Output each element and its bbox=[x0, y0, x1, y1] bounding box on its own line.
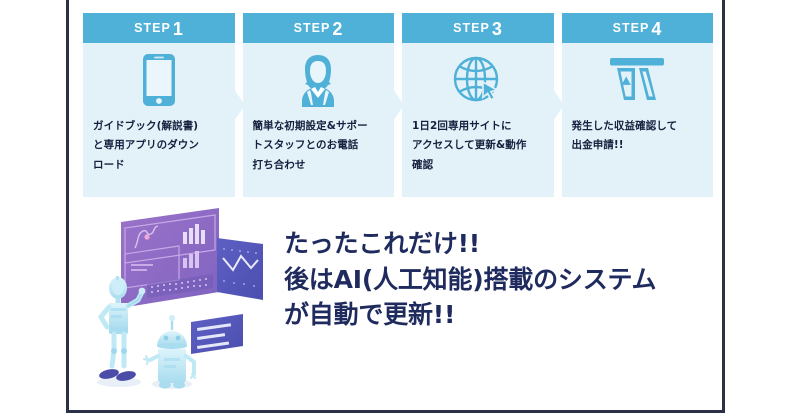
atm-machine-icon bbox=[562, 49, 714, 111]
bottom-section: たったこれだけ!! 後はAI(人工知能)搭載のシステム が自動で更新!! bbox=[69, 204, 722, 404]
step-text-line: 出金申請!! bbox=[572, 136, 704, 155]
support-staff-icon bbox=[243, 49, 395, 111]
step-label-word-3: STEP bbox=[453, 21, 490, 35]
step-text-line: 確認 bbox=[412, 156, 544, 175]
step-text-line: アクセスして更新&動作 bbox=[412, 136, 544, 155]
headline-line-1: たったこれだけ!! bbox=[284, 226, 656, 262]
step-card-4[interactable]: STEP4 bbox=[562, 13, 714, 197]
step-number-4: 4 bbox=[651, 20, 662, 38]
step-text-1: ガイドブック(解説書) と専用アプリのダウン ロード bbox=[83, 111, 235, 175]
step-arrow-connector-2 bbox=[393, 89, 404, 121]
content-frame: STEP1 ガイドブック(解説書) と専用アプリのダウン ロード bbox=[66, 0, 725, 413]
robots-viewing-dashboard-illustration bbox=[87, 204, 272, 394]
step-card-2[interactable]: STEP2 bbox=[243, 13, 395, 197]
step-text-line: 簡単な初期設定&サポー bbox=[253, 117, 385, 136]
step-text-line: 発生した収益確認して bbox=[572, 117, 704, 136]
step-text-3: 1日2回専用サイトに アクセスして更新&動作 確認 bbox=[402, 111, 554, 175]
step-arrow-connector-1 bbox=[234, 89, 245, 121]
step-text-line: 打ち合わせ bbox=[253, 156, 385, 175]
step-text-line: トスタッフとのお電話 bbox=[253, 136, 385, 155]
smartphone-icon bbox=[83, 49, 235, 111]
step-label-word-2: STEP bbox=[294, 21, 331, 35]
globe-cursor-icon bbox=[402, 49, 554, 111]
step-header-4: STEP4 bbox=[562, 13, 714, 43]
headline-line-3: が自動で更新!! bbox=[284, 297, 656, 333]
step-number-3: 3 bbox=[492, 20, 503, 38]
frame-inner: STEP1 ガイドブック(解説書) と専用アプリのダウン ロード bbox=[69, 0, 722, 410]
step-header-2: STEP2 bbox=[243, 13, 395, 43]
step-text-line: 1日2回専用サイトに bbox=[412, 117, 544, 136]
step-label-word-4: STEP bbox=[613, 21, 650, 35]
headline-line-2: 後はAI(人工知能)搭載のシステム bbox=[284, 262, 656, 298]
step-card-3[interactable]: STEP3 bbox=[402, 13, 554, 197]
step-card-1[interactable]: STEP1 ガイドブック(解説書) と専用アプリのダウン ロード bbox=[83, 13, 235, 197]
step-text-line: ロード bbox=[93, 156, 225, 175]
step-text-line: ガイドブック(解説書) bbox=[93, 117, 225, 136]
step-arrow-connector-3 bbox=[553, 89, 564, 121]
steps-row: STEP1 ガイドブック(解説書) と専用アプリのダウン ロード bbox=[83, 13, 713, 197]
headline: たったこれだけ!! 後はAI(人工知能)搭載のシステム が自動で更新!! bbox=[284, 226, 656, 333]
step-label-word-1: STEP bbox=[134, 21, 171, 35]
step-text-line: と専用アプリのダウン bbox=[93, 136, 225, 155]
step-header-1: STEP1 bbox=[83, 13, 235, 43]
step-text-2: 簡単な初期設定&サポー トスタッフとのお電話 打ち合わせ bbox=[243, 111, 395, 175]
step-number-1: 1 bbox=[173, 20, 184, 38]
step-header-3: STEP3 bbox=[402, 13, 554, 43]
step-text-4: 発生した収益確認して 出金申請!! bbox=[562, 111, 714, 156]
step-number-2: 2 bbox=[332, 20, 343, 38]
